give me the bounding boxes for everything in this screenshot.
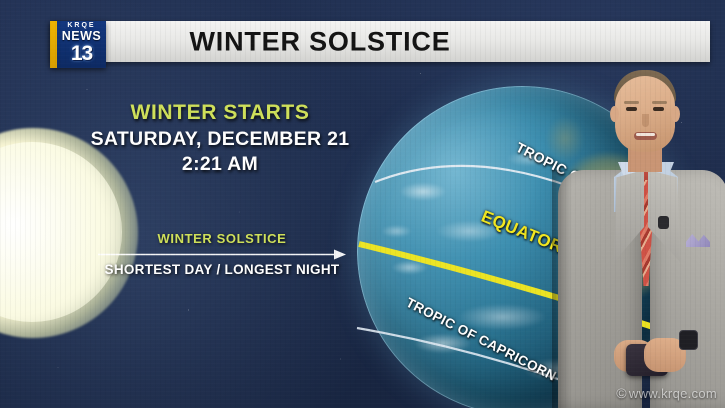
- eyebrow-left: [624, 101, 639, 104]
- winter-start-time: 2:21 AM: [74, 152, 366, 177]
- ear-right: [671, 106, 680, 122]
- ear-left: [610, 106, 619, 122]
- callout-caption: WINTER SOLSTICE: [96, 231, 348, 246]
- logo-channel-number: 13: [71, 43, 92, 64]
- eye-left: [626, 107, 637, 111]
- nose: [642, 114, 649, 127]
- logo-inner: KRQE NEWS 13: [57, 21, 106, 68]
- solstice-callout: WINTER SOLSTICE SHORTEST DAY / LONGEST N…: [96, 231, 348, 278]
- broadcast-graphic: TROPIC OF CANCER EQUATOR TROPIC OF CAPRI…: [0, 0, 725, 408]
- eyebrow-right: [652, 101, 667, 104]
- krqe-news-13-logo: KRQE NEWS 13: [50, 21, 106, 68]
- callout-subcaption: SHORTEST DAY / LONGEST NIGHT: [96, 262, 348, 278]
- title-bar: WINTER SOLSTICE: [50, 21, 710, 62]
- watermark: ©www.krqe.com: [616, 385, 717, 401]
- winter-start-info: WINTER STARTS SATURDAY, DECEMBER 21 2:21…: [74, 101, 366, 177]
- meteorologist-figure: [552, 66, 725, 408]
- copyright-icon: ©: [616, 385, 627, 401]
- lapel-microphone: [658, 216, 669, 229]
- winter-starts-heading: WINTER STARTS: [74, 101, 366, 125]
- wristwatch: [679, 330, 698, 350]
- figure-edge-shadow: [552, 170, 572, 408]
- winter-start-date: SATURDAY, DECEMBER 21: [74, 127, 366, 152]
- eye-right: [653, 107, 664, 111]
- watermark-url: www.krqe.com: [629, 386, 717, 401]
- right-arrow-icon: [96, 248, 348, 261]
- page-title: WINTER SOLSTICE: [50, 26, 710, 57]
- teeth: [636, 133, 655, 136]
